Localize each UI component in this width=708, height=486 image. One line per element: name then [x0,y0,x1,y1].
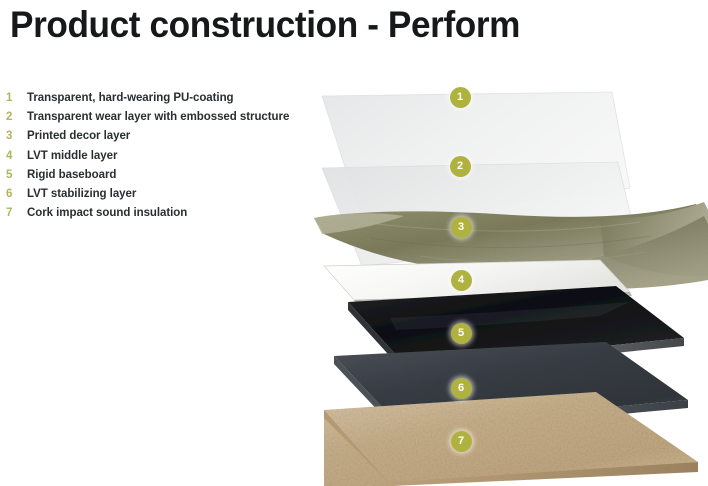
legend-label: Printed decor layer [27,127,130,146]
list-item: 3 Printed decor layer [0,127,330,146]
legend-number: 5 [6,166,20,185]
legend-label: Transparent, hard-wearing PU-coating [27,89,234,108]
legend-label: LVT middle layer [27,147,117,166]
legend-label: Rigid baseboard [27,166,116,185]
page-title: Product construction - Perform [10,4,520,46]
legend-number: 2 [6,108,20,127]
product-construction-infographic: Product construction - Perform 1 Transpa… [0,0,708,486]
callout-badge-2[interactable]: 2 [450,156,471,177]
legend-number: 4 [6,147,20,166]
callout-badge-7[interactable]: 7 [451,431,472,452]
list-item: 5 Rigid baseboard [0,166,330,185]
legend-number: 6 [6,185,20,204]
exploded-layer-illustration: 1 2 3 4 5 6 7 [300,70,708,486]
callout-badge-3[interactable]: 3 [451,217,472,238]
list-item: 1 Transparent, hard-wearing PU-coating [0,89,330,108]
callout-badge-5[interactable]: 5 [451,323,472,344]
callout-badge-4[interactable]: 4 [451,270,472,291]
legend-number: 1 [6,89,20,108]
legend-label: Transparent wear layer with embossed str… [27,108,289,127]
legend-number: 3 [6,127,20,146]
legend-number: 7 [6,204,20,223]
list-item: 6 LVT stabilizing layer [0,185,330,204]
layer-legend-list: 1 Transparent, hard-wearing PU-coating 2… [0,89,330,223]
legend-label: Cork impact sound insulation [27,204,187,223]
list-item: 7 Cork impact sound insulation [0,204,330,223]
list-item: 2 Transparent wear layer with embossed s… [0,108,330,127]
layer-stack-graphic [300,70,708,486]
callout-badge-6[interactable]: 6 [451,378,472,399]
legend-label: LVT stabilizing layer [27,185,136,204]
list-item: 4 LVT middle layer [0,147,330,166]
callout-badge-1[interactable]: 1 [450,87,471,108]
